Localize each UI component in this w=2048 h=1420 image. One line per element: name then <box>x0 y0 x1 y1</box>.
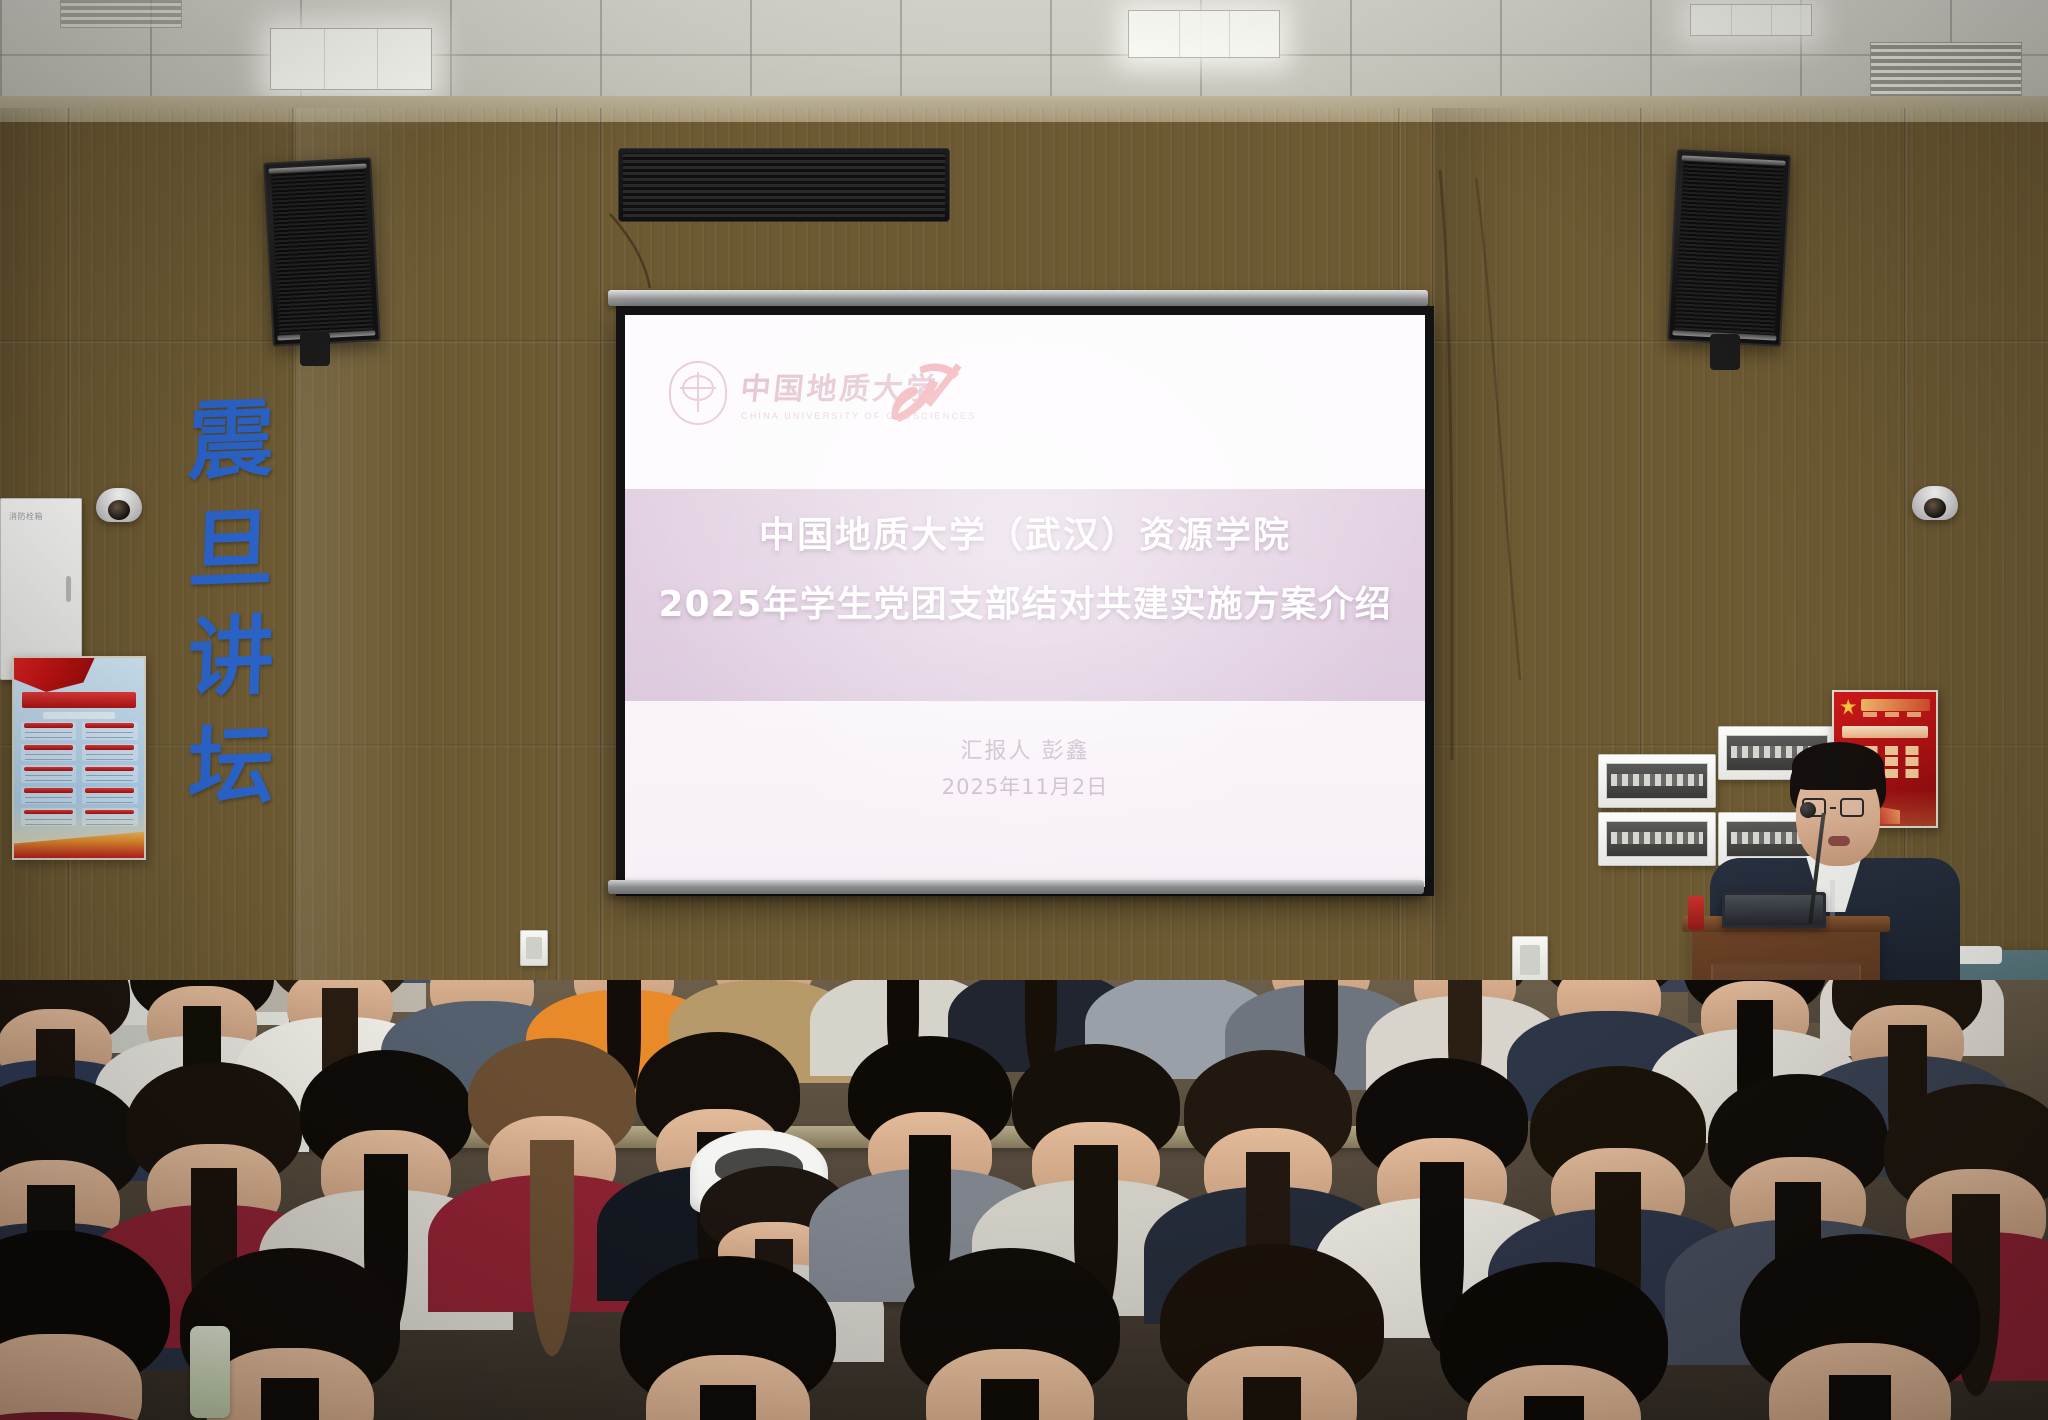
audience-head <box>620 1256 836 1420</box>
presenter-mouth <box>1828 836 1850 846</box>
audience-head <box>978 980 1104 1014</box>
audience-head <box>1160 1244 1384 1420</box>
fire-hose-cabinet: 消防栓箱 <box>0 498 82 680</box>
breaker-panel <box>1598 754 1716 808</box>
calligraphy-char-4: 坛 <box>186 724 275 809</box>
audience-head <box>1740 1234 1980 1420</box>
slide-date: 2025年11月2日 <box>625 770 1425 806</box>
audience-head <box>1540 980 1678 1058</box>
dome-camera-left <box>96 488 142 522</box>
audience-head <box>1012 1044 1180 1238</box>
breaker-panel <box>1598 812 1716 866</box>
projection-screen-frame: 中国地质大学 CHINA UNIVERSITY OF GEOSCIENCES <box>616 306 1434 896</box>
slide-title-line1: 中国地质大学（武汉）资源学院 <box>625 507 1425 565</box>
audience-head <box>1256 980 1386 1030</box>
slide-meta-block: 汇报人 彭鑫 2025年11月2日 <box>625 733 1425 806</box>
hvac-vent <box>60 0 182 28</box>
poster-subheader-graphic <box>1863 712 1928 717</box>
audience-water-bottle <box>190 1326 230 1418</box>
audience-head <box>1398 980 1532 1042</box>
projection-screen: 中国地质大学 CHINA UNIVERSITY OF GEOSCIENCES <box>625 315 1425 887</box>
slide-title-line2: 2025年学生党团支部结对共建实施方案介绍 <box>625 576 1425 634</box>
audience-head <box>700 980 828 1024</box>
poster-subtitle-bar <box>43 712 116 719</box>
screen-bottom-bar <box>608 880 1424 894</box>
audience-head <box>1684 980 1826 1078</box>
ceiling-light-panel <box>270 28 432 90</box>
presenter-hair-top <box>1792 742 1884 790</box>
wall-speaker-left <box>263 157 380 346</box>
slide-presenter: 汇报人 彭鑫 <box>625 733 1425 770</box>
audience-head <box>840 980 966 1018</box>
poster-item <box>82 744 138 762</box>
poster-item <box>21 744 77 762</box>
audience-head <box>1530 1066 1706 1270</box>
screen-top-rail <box>608 290 1428 306</box>
poster-items-grid <box>21 722 138 826</box>
poster-item <box>82 722 138 740</box>
microphone-head-icon <box>1800 802 1816 818</box>
poster-header-graphic <box>1861 699 1930 711</box>
audience-head <box>1440 1262 1668 1420</box>
poster-item <box>82 765 138 783</box>
poster-item <box>82 808 138 826</box>
wall-speaker-right <box>1667 149 1791 347</box>
poster-star-icon <box>1840 699 1856 715</box>
audience-area <box>0 980 2048 1420</box>
wall-outlet[interactable] <box>1512 936 1548 984</box>
poster-item <box>21 808 77 826</box>
poster-item <box>82 787 138 805</box>
calligraphy-char-3: 讲 <box>186 616 275 701</box>
slide-title-block: 中国地质大学（武汉）资源学院 2025年学生党团支部结对共建实施方案介绍 <box>625 507 1425 634</box>
poster-item <box>21 787 77 805</box>
dome-camera-right <box>1912 486 1958 520</box>
ceiling-light-panel <box>1128 10 1280 58</box>
poster-flag-graphic <box>14 658 95 692</box>
ceiling-light-panel <box>1690 4 1812 36</box>
cabinet-label-top: 消防栓箱 <box>9 511 73 522</box>
speaker-grille <box>271 170 373 335</box>
wall-calligraphy: 震 旦 讲 坛 <box>176 400 286 808</box>
teacher-guidelines-poster <box>12 656 146 860</box>
audience-head <box>1356 1058 1528 1258</box>
wall-seam <box>1640 108 1643 1008</box>
speaker-mount <box>300 332 330 366</box>
wall-switch[interactable] <box>520 930 548 966</box>
speaker-grille <box>1675 161 1784 334</box>
poster-item <box>21 722 77 740</box>
podium-water-bottle <box>1688 896 1704 930</box>
audience-head <box>0 1230 170 1420</box>
audience-head <box>1184 1050 1352 1246</box>
audience-head <box>900 1248 1120 1420</box>
audience-head <box>848 1036 1012 1226</box>
party-emblem-icon <box>885 355 971 429</box>
lecture-hall-photo: 震 旦 讲 坛 消防栓箱 <box>0 0 2048 1420</box>
speaker-mount <box>1710 334 1740 370</box>
audience-head <box>1116 980 1244 1020</box>
poster-item <box>21 765 77 783</box>
cabinet-latch[interactable] <box>66 576 71 602</box>
university-seal-icon <box>669 361 727 425</box>
poster-title-bar <box>22 692 136 708</box>
screen-cable <box>600 210 720 300</box>
calligraphy-char-2: 旦 <box>186 507 275 592</box>
hvac-vent <box>1870 42 2022 102</box>
calligraphy-char-1: 震 <box>186 399 275 484</box>
poster-footer-graphic <box>14 826 144 858</box>
wall-seam <box>556 108 559 1008</box>
